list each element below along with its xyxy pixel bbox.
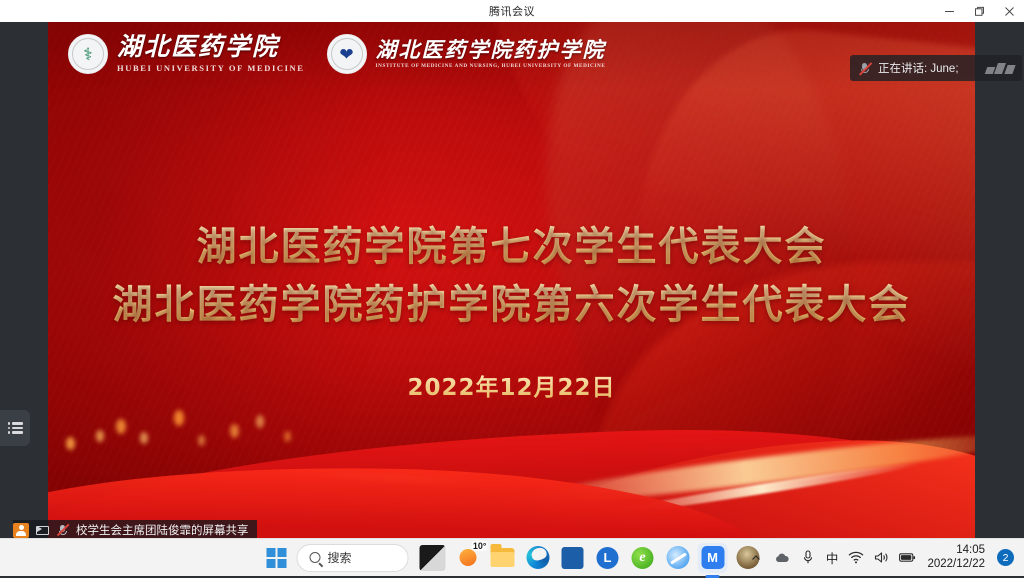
window-title: 腾讯会议 (489, 3, 535, 19)
comet-app-icon (666, 546, 689, 569)
logo-1-cn: 湖北医药学院 (117, 35, 305, 61)
taskbar-app-file-explorer[interactable] (488, 543, 518, 573)
taskbar-app-store[interactable] (558, 543, 588, 573)
search-icon (310, 552, 321, 563)
participants-panel-toggle[interactable] (0, 410, 30, 446)
speaker-icon[interactable] (873, 549, 890, 566)
microphone-icon[interactable] (800, 549, 817, 566)
notification-badge[interactable]: 2 (997, 549, 1014, 566)
meeting-stage: ⚕ 湖北医药学院 HUBEI UNIVERSITY OF MEDICINE ❤ … (0, 22, 1024, 538)
taskbar-app-weather[interactable]: 10° (453, 543, 483, 573)
slide-date: 2022年12月22日 (48, 368, 975, 402)
logo-1-en: HUBEI UNIVERSITY OF MEDICINE (117, 63, 305, 73)
hubei-university-of-medicine-seal-icon: ⚕ (68, 34, 108, 74)
start-button[interactable] (262, 543, 292, 573)
taskbar-app-lenovo[interactable]: L (593, 543, 623, 573)
logo-hubei-university-of-medicine: ⚕ 湖北医药学院 HUBEI UNIVERSITY OF MEDICINE (68, 34, 305, 74)
wifi-icon[interactable] (847, 549, 864, 566)
bokeh-3 (116, 419, 126, 434)
system-tray: 中 14:05 2022/12/22 (748, 544, 1014, 571)
battery-icon[interactable] (899, 549, 916, 566)
slide-titles: 湖北医药学院第七次学生代表大会 湖北医药学院药护学院第六次学生代表大会 2022… (48, 218, 975, 402)
clock-time: 14:05 (927, 544, 985, 558)
taskbar-search[interactable]: 搜索 (297, 544, 409, 572)
close-button[interactable] (994, 0, 1024, 22)
taskbar-app-comet[interactable] (663, 543, 693, 573)
ime-indicator[interactable]: 中 (826, 548, 839, 567)
person-icon (13, 523, 29, 538)
window-controls (934, 0, 1024, 22)
lenovo-icon: L (597, 547, 619, 569)
bokeh-6 (198, 435, 205, 446)
bokeh-4 (140, 432, 148, 444)
microsoft-store-icon (562, 547, 584, 569)
internet-explorer-icon: e (632, 547, 654, 569)
clock-date: 2022/12/22 (927, 558, 985, 572)
taskbar-app-internet-explorer[interactable]: e (628, 543, 658, 573)
slide-title-line-1: 湖北医药学院第七次学生代表大会 (48, 218, 975, 276)
speaking-indicator: 正在讲话: June; (850, 55, 1022, 81)
file-explorer-icon (490, 545, 516, 571)
taskbar-center-group: 搜索 10° L e (262, 543, 763, 573)
chevron-up-icon[interactable] (748, 549, 765, 566)
search-placeholder: 搜索 (328, 549, 352, 566)
taskbar-app-widgets[interactable] (418, 543, 448, 573)
minimize-button[interactable] (934, 0, 964, 22)
taskbar-clock[interactable]: 14:05 2022/12/22 (927, 544, 985, 571)
windows-logo-icon (267, 548, 287, 568)
taskbar-app-edge[interactable] (523, 543, 553, 573)
list-icon (8, 420, 23, 436)
bokeh-1 (66, 437, 75, 450)
slide-logos: ⚕ 湖北医药学院 HUBEI UNIVERSITY OF MEDICINE ❤ … (68, 34, 606, 74)
slide-title-line-2: 湖北医药学院药护学院第六次学生代表大会 (48, 276, 975, 334)
screen-share-icon (34, 523, 50, 538)
institute-of-medicine-and-nursing-seal-icon: ❤ (327, 34, 367, 74)
bokeh-9 (284, 431, 291, 442)
logo-2-en: INSTITUTE OF MEDICINE AND NURSING, HUBEI… (376, 63, 606, 69)
logo-2-cn: 湖北医药学院药护学院 (376, 39, 606, 61)
restore-button[interactable] (964, 0, 994, 22)
microsoft-edge-icon (526, 546, 549, 569)
cloud-icon[interactable] (774, 549, 791, 566)
bokeh-2 (96, 430, 104, 442)
shared-slide: ⚕ 湖北医药学院 HUBEI UNIVERSITY OF MEDICINE ❤ … (48, 22, 975, 538)
audio-wave-icon (986, 63, 1014, 74)
bokeh-5 (174, 410, 184, 426)
bokeh-8 (256, 415, 264, 428)
widgets-icon (420, 545, 446, 571)
tencent-meeting-icon: M (701, 546, 724, 569)
weather-temperature: 10° (472, 541, 488, 551)
taskbar-app-tencent-meeting[interactable]: M (698, 543, 728, 573)
weather-icon: 10° (455, 545, 481, 571)
speaking-label: 正在讲话: June; (878, 60, 959, 76)
logo-institute-of-medicine-and-nursing: ❤ 湖北医药学院药护学院 INSTITUTE OF MEDICINE AND N… (327, 34, 606, 74)
window-titlebar: 腾讯会议 (0, 0, 1024, 22)
tencent-meeting-glyph: M (707, 551, 718, 564)
screen-share-notice: 校学生会主席团陆俊霏的屏幕共享 (13, 520, 257, 538)
bokeh-7 (230, 424, 239, 438)
windows-taskbar: 搜索 10° L e (0, 538, 1024, 576)
mic-muted-icon (858, 62, 871, 75)
screen-share-label: 校学生会主席团陆俊霏的屏幕共享 (76, 522, 249, 538)
mic-muted-icon (55, 523, 71, 538)
